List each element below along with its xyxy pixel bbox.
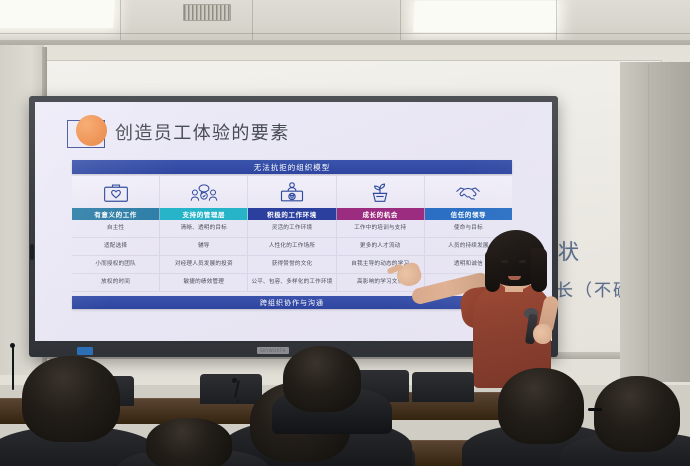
cell-3-0: 工作中的培训与支持 <box>337 220 425 237</box>
cell-0-1: 适配选择 <box>72 238 160 255</box>
footer-bar: 跨组织协作与沟通 <box>72 296 512 309</box>
column-header-2: 积极的工作环境 <box>248 208 336 220</box>
presenter-hair-right <box>531 248 547 292</box>
display-side-button[interactable] <box>30 244 34 260</box>
cell-2-2: 获得赞誉的文化 <box>248 256 336 273</box>
desk-microphone-head-2 <box>232 378 237 383</box>
handshake-icon <box>425 176 512 208</box>
column-header-0: 有意义的工作 <box>72 208 160 220</box>
display-brand-logo: SKYWORTH <box>257 347 289 354</box>
desk-microphone-base-2 <box>237 400 239 402</box>
ceiling-tile-seam <box>120 0 121 44</box>
cell-1-2: 对经理人员发展的投资 <box>160 256 248 273</box>
desk-microphone-head-1 <box>10 343 15 348</box>
chair-4 <box>412 372 474 402</box>
cell-3-1: 更多的人才流动 <box>337 238 425 255</box>
right-wall-seam <box>648 64 649 382</box>
cell-0-0: 自主性 <box>72 220 160 237</box>
column-header-4: 信任的领导 <box>425 208 512 220</box>
table-row: 小而授权的团队 对经理人员发展的投资 获得赞誉的文化 自我主导的动态的学习 透明… <box>72 256 512 274</box>
icons-row <box>72 176 512 208</box>
people-speech-icon <box>160 176 248 208</box>
presenter-mic-hand <box>533 324 552 344</box>
table-row: 适配选择 辅导 人性化的工作场所 更多的人才流动 人员的持续发展 <box>72 238 512 256</box>
cell-0-2: 小而授权的团队 <box>72 256 160 273</box>
cell-1-0: 清晰、透明的目标 <box>160 220 248 237</box>
briefcase-heart-icon <box>72 176 160 208</box>
attendee-1-head <box>22 356 120 442</box>
presenter-eye-left <box>501 260 508 263</box>
cell-2-0: 灵活的工作环境 <box>248 220 336 237</box>
logo-circle <box>76 115 107 146</box>
classroom-scene: 簇状 长（不确定性） (主) 造 创造员工体验的要素 无法抗拒的组织模型 <box>0 0 690 466</box>
cell-0-3: 放权的时间 <box>72 274 160 291</box>
right-wall <box>620 62 690 382</box>
cell-1-3: 敏捷的绩效管理 <box>160 274 248 291</box>
attendee-7-head <box>146 418 232 466</box>
cell-2-1: 人性化的工作场所 <box>248 238 336 255</box>
column-header-3: 成长的机会 <box>337 208 425 220</box>
cell-2-3: 公平、包容、多样化的工作环境 <box>248 274 336 291</box>
ceiling-tile-seam <box>556 0 557 44</box>
chair-2 <box>200 374 262 404</box>
ceiling-tile-seam <box>400 0 401 44</box>
desk-microphone-1 <box>12 346 14 390</box>
model-header-bar: 无法抗拒的组织模型 <box>72 160 512 174</box>
orange-circle-logo <box>67 120 105 148</box>
ceiling-tile-seam <box>252 0 253 44</box>
ceiling-light-panel-2 <box>413 1 558 32</box>
presenter-hair-left <box>485 250 500 292</box>
attendee-5-head <box>498 368 584 444</box>
potted-plant-icon <box>337 176 425 208</box>
attendee-4-head <box>283 346 361 412</box>
cell-1-1: 辅导 <box>160 238 248 255</box>
column-headers: 有意义的工作 支持的管理层 积极的工作环境 成长的机会 信任的领导 <box>72 208 512 220</box>
display-status-led <box>77 347 93 355</box>
person-desk-icon <box>248 176 336 208</box>
ceiling-tile-seam <box>0 33 690 34</box>
attendee-6-head <box>594 376 680 452</box>
slide-title: 创造员工体验的要素 <box>115 119 290 145</box>
ceiling-light-panel-1 <box>0 0 115 28</box>
presenter-speaker <box>455 238 585 388</box>
presenter-mouth <box>508 276 521 280</box>
presenter-eye-right <box>519 260 526 263</box>
column-header-1: 支持的管理层 <box>160 208 248 220</box>
ceiling-air-vent <box>183 4 231 21</box>
attendee-6-glasses-icon <box>588 408 602 411</box>
table-row: 自主性 清晰、透明的目标 灵活的工作环境 工作中的培训与支持 使命与目标 <box>72 220 512 238</box>
